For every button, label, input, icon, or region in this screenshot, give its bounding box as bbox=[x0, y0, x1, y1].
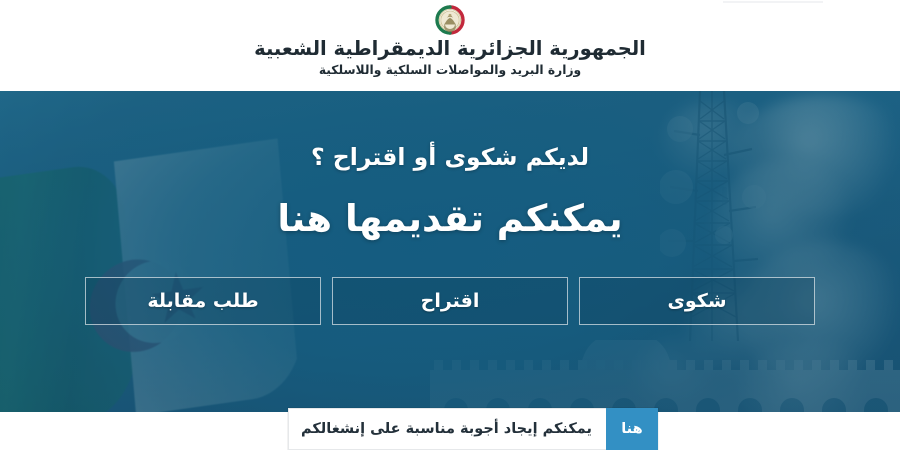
hero-content: لديكم شكوى أو اقتراح ؟ يمكنكم تقديمها هن… bbox=[0, 91, 900, 450]
complaint-button[interactable]: شكوى bbox=[579, 277, 815, 325]
notice-message: يمكنكم إيجاد أجوبة مناسبة على إنشغالكم bbox=[288, 408, 606, 450]
hero-banner: لديكم شكوى أو اقتراح ؟ يمكنكم تقديمها هن… bbox=[0, 91, 900, 450]
suggestion-button[interactable]: اقتراح bbox=[332, 277, 568, 325]
header-subtitle: وزارة البريد والمواصلات السلكية واللاسلك… bbox=[319, 63, 581, 79]
hero-action-buttons: شكوى اقتراح طلب مقابلة bbox=[85, 277, 815, 325]
hero-kicker-text: لديكم شكوى أو اقتراح ؟ bbox=[311, 143, 589, 171]
header-top-divider bbox=[723, 1, 823, 3]
appointment-request-button[interactable]: طلب مقابلة bbox=[85, 277, 321, 325]
notice-here-link[interactable]: هنا bbox=[606, 408, 658, 450]
site-header: الجمهورية الجزائرية الديمقراطية الشعبية … bbox=[0, 0, 900, 91]
hero-headline: يمكنكم تقديمها هنا bbox=[277, 197, 622, 240]
page-root: الجمهورية الجزائرية الديمقراطية الشعبية … bbox=[0, 0, 900, 450]
notice-bar: يمكنكم إيجاد أجوبة مناسبة على إنشغالكم ه… bbox=[0, 412, 900, 450]
page-title: الجمهورية الجزائرية الديمقراطية الشعبية bbox=[254, 38, 646, 60]
algeria-national-emblem-icon bbox=[428, 4, 472, 37]
notice-card: يمكنكم إيجاد أجوبة مناسبة على إنشغالكم ه… bbox=[288, 408, 658, 450]
